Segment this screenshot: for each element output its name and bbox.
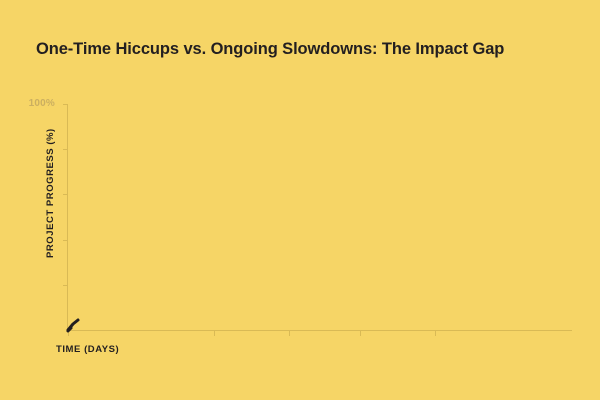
x-axis-line	[68, 330, 572, 331]
x-axis-tick	[68, 331, 69, 336]
chart-title: One-Time Hiccups vs. Ongoing Slowdowns: …	[36, 39, 576, 59]
y-axis-tick-label-100: 100%	[29, 98, 55, 109]
y-axis-tick	[63, 285, 68, 286]
x-axis-tick	[289, 331, 290, 336]
x-axis-tick	[214, 331, 215, 336]
series-layer	[0, 0, 600, 400]
y-axis-title: PROJECT PROGRESS (%)	[45, 128, 56, 258]
chart-canvas: One-Time Hiccups vs. Ongoing Slowdowns: …	[0, 0, 600, 400]
y-axis-tick	[63, 194, 68, 195]
x-axis-title: TIME (DAYS)	[56, 344, 119, 355]
y-axis-tick	[63, 149, 68, 150]
y-axis-tick	[63, 240, 68, 241]
y-axis-tick	[63, 104, 68, 105]
x-axis-tick	[435, 331, 436, 336]
series-line-project-progress	[68, 320, 78, 330]
x-axis-tick	[360, 331, 361, 336]
y-axis-line	[67, 104, 68, 331]
